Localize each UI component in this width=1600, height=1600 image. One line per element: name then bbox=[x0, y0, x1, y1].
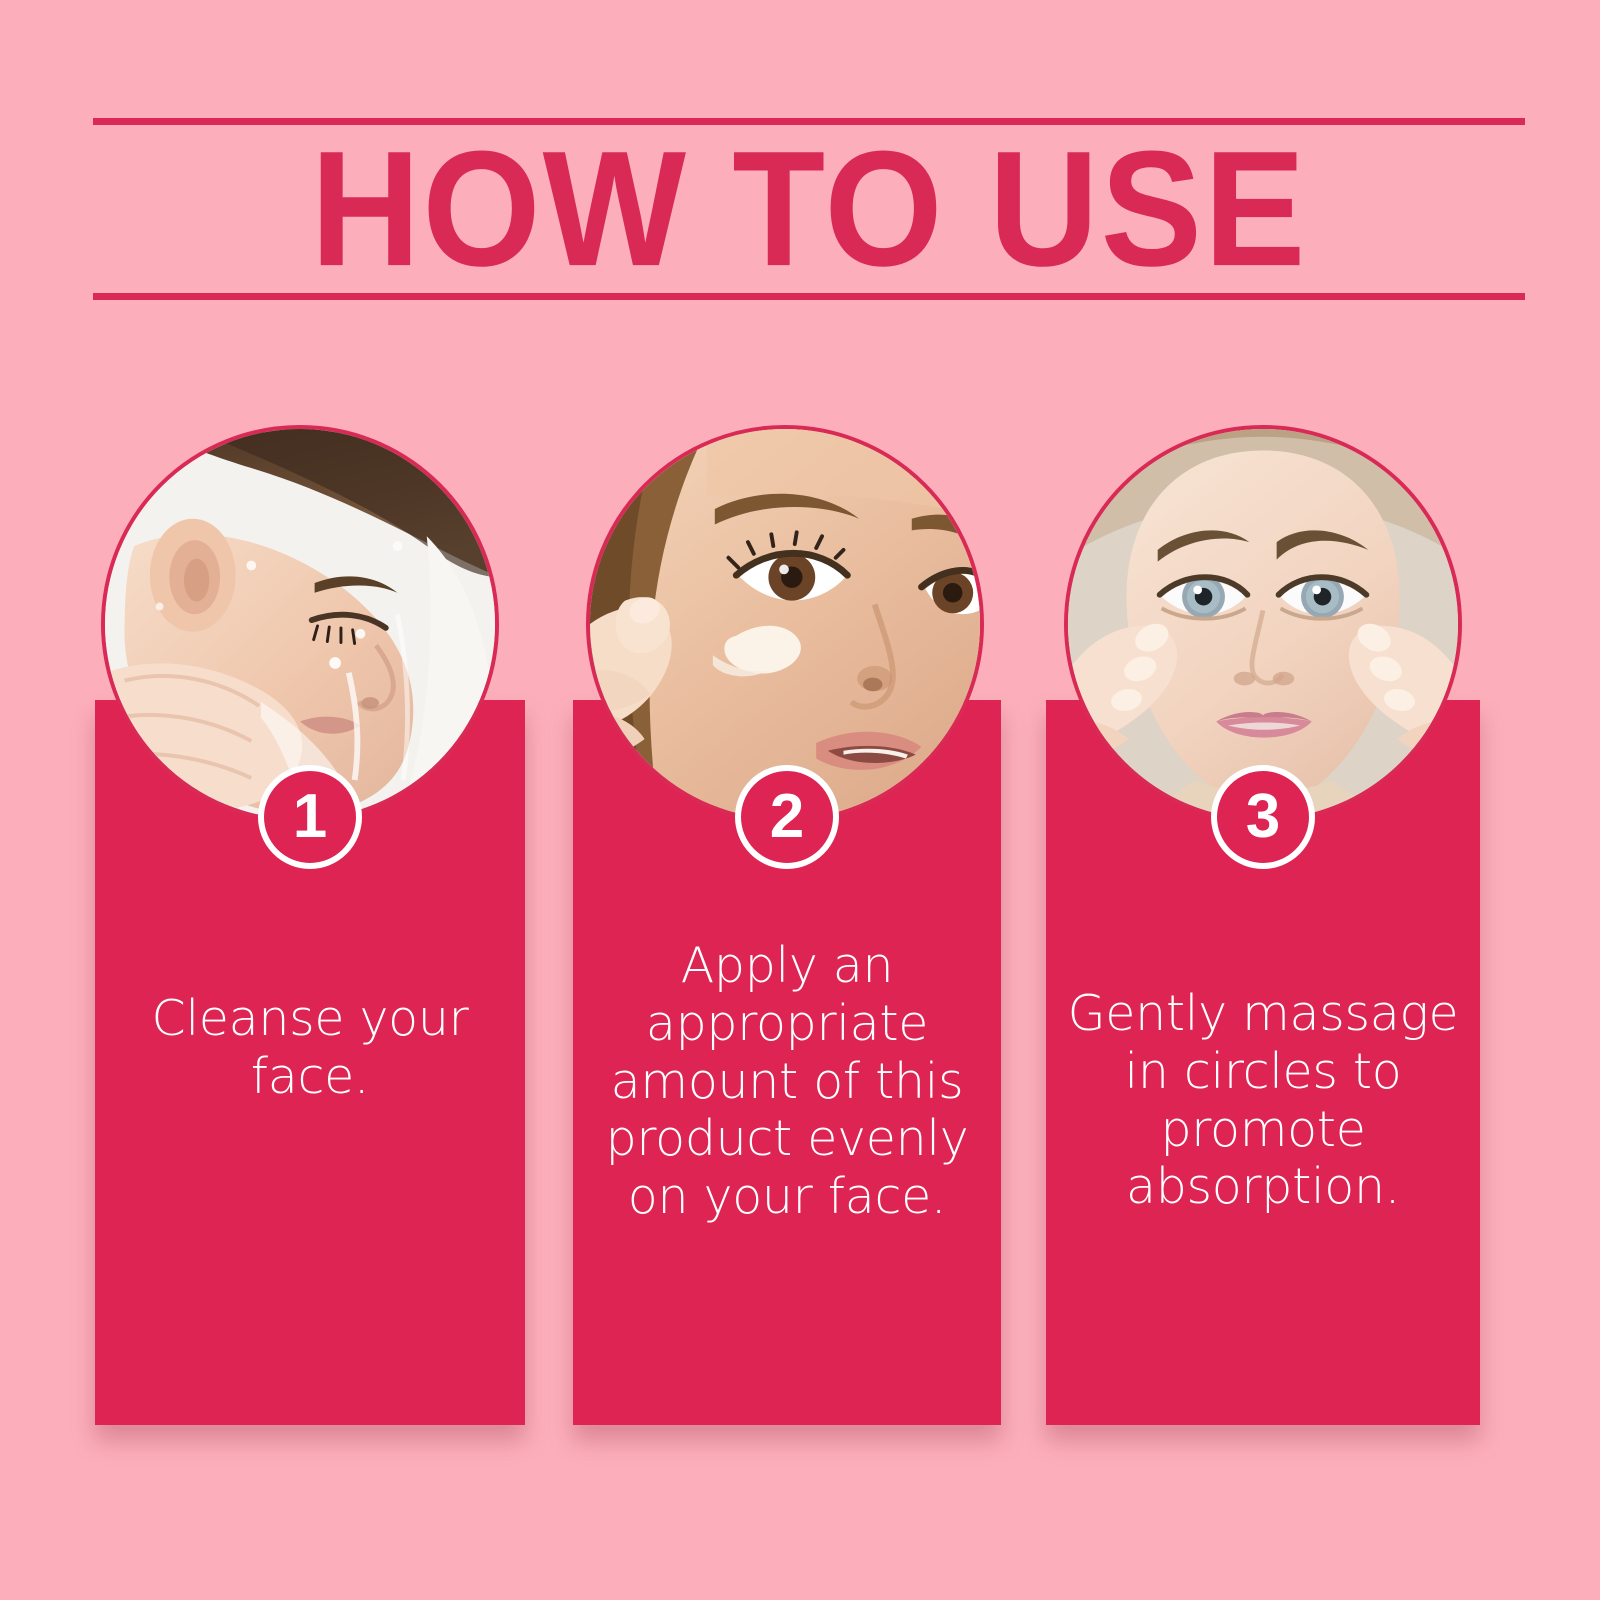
step-badge-1: 1 bbox=[258, 765, 362, 869]
step-number-1: 1 bbox=[293, 786, 327, 848]
step-number-3: 3 bbox=[1246, 786, 1280, 848]
step-caption-1: Cleanse your face. bbox=[95, 990, 525, 1106]
step-number-2: 2 bbox=[770, 786, 804, 848]
step-photo-1 bbox=[101, 425, 499, 823]
step-photo-2 bbox=[586, 425, 984, 823]
steps-container: 1 Cleanse your face. bbox=[0, 0, 1600, 1600]
step-caption-2: Apply an appropriate amount of this prod… bbox=[573, 937, 1001, 1226]
step-caption-3: Gently massage in circles to promote abs… bbox=[1046, 985, 1480, 1216]
step-badge-3: 3 bbox=[1211, 765, 1315, 869]
step-photo-3 bbox=[1064, 425, 1462, 823]
step-badge-2: 2 bbox=[735, 765, 839, 869]
